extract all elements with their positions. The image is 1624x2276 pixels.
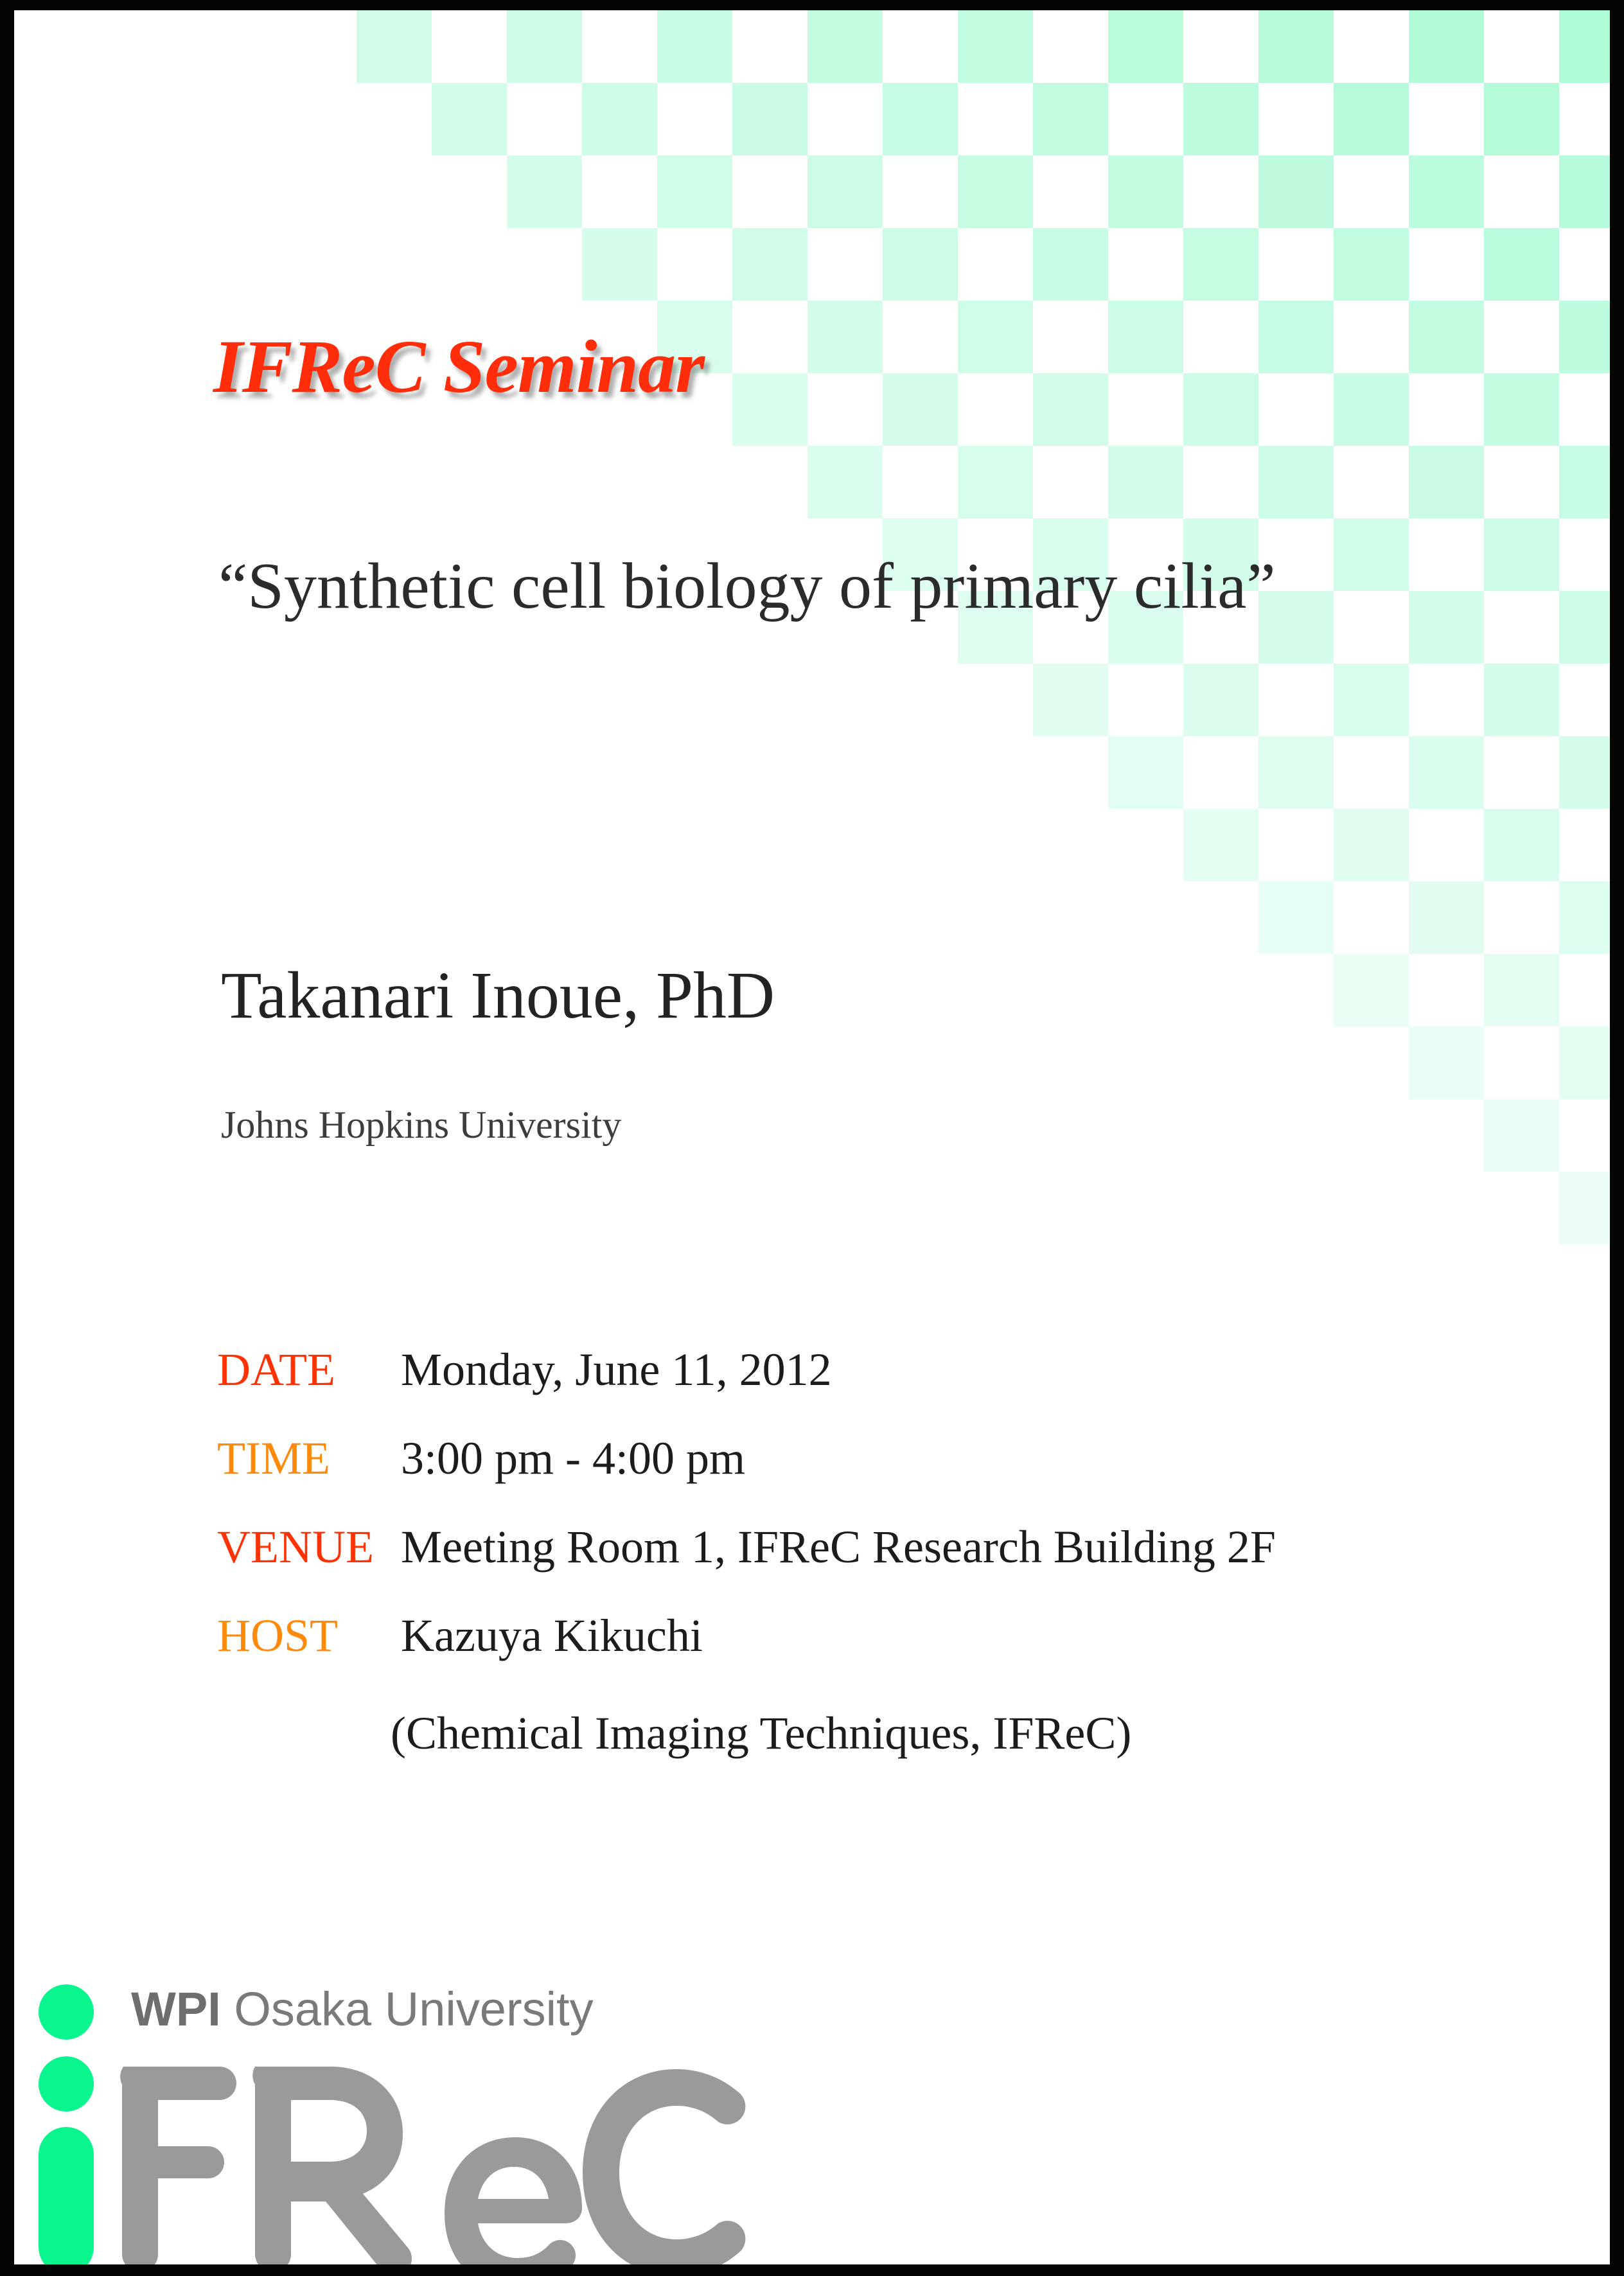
checker-cell xyxy=(1334,809,1409,881)
checker-cell xyxy=(1409,881,1484,954)
detail-label-time: TIME xyxy=(217,1435,401,1481)
detail-row-time: TIME 3:00 pm - 4:00 pm xyxy=(217,1435,1502,1524)
checker-cell xyxy=(1559,10,1610,83)
detail-row-date: DATE Monday, June 11, 2012 xyxy=(217,1346,1502,1435)
checker-cell xyxy=(1183,228,1258,301)
logo-university-name: Osaka University xyxy=(234,1982,593,2036)
logo-dot-top-icon xyxy=(39,1984,94,2040)
checker-cell xyxy=(808,301,883,373)
logo-university-text xyxy=(221,1982,234,2036)
checker-cell xyxy=(1409,1027,1484,1099)
host-department: (Chemical Imaging Techniques, IFReC) xyxy=(391,1710,1131,1756)
checker-cell xyxy=(1108,10,1183,83)
checker-cell xyxy=(1183,83,1258,155)
detail-value-host: Kazuya Kikuchi xyxy=(401,1612,703,1659)
checker-cell xyxy=(1033,228,1108,301)
checker-cell xyxy=(732,228,808,301)
checker-cell xyxy=(1409,155,1484,228)
checker-cell xyxy=(1183,809,1258,881)
checker-cell xyxy=(1559,446,1610,518)
checkerboard-decoration xyxy=(14,10,1610,1295)
logo-dot-stem-icon xyxy=(39,2127,94,2264)
checker-cell xyxy=(1409,591,1484,664)
poster-page: IFReC Seminar “Synthetic cell biology of… xyxy=(14,10,1610,2264)
detail-value-time: 3:00 pm - 4:00 pm xyxy=(401,1435,745,1481)
logo-i-dots-icon xyxy=(32,1984,103,2264)
checker-cell xyxy=(1559,591,1610,664)
checker-cell xyxy=(808,155,883,228)
talk-title: “Synthetic cell biology of primary cilia… xyxy=(218,552,1276,621)
checker-cell xyxy=(883,228,958,301)
detail-value-venue: Meeting Room 1, IFReC Research Building … xyxy=(401,1524,1276,1570)
checker-cell xyxy=(1409,446,1484,518)
checker-cell xyxy=(808,10,883,83)
checker-cell xyxy=(1484,518,1559,591)
speaker-affiliation: Johns Hopkins University xyxy=(221,1106,621,1144)
checker-cell xyxy=(1108,446,1183,518)
checker-cell xyxy=(582,83,657,155)
checker-cell xyxy=(1033,373,1108,446)
checker-cell xyxy=(1258,301,1334,373)
checker-cell xyxy=(958,155,1033,228)
checker-cell xyxy=(732,373,808,446)
logo-wpi-osaka-university: WPI Osaka University xyxy=(131,1986,594,2033)
checker-cell xyxy=(432,83,507,155)
checker-cell xyxy=(1183,373,1258,446)
event-details: DATE Monday, June 11, 2012 TIME 3:00 pm … xyxy=(217,1346,1502,1701)
seminar-series-title: IFReC Seminar xyxy=(213,329,704,405)
checker-cell xyxy=(1334,373,1409,446)
checker-cell xyxy=(1484,809,1559,881)
checker-cell xyxy=(357,10,432,83)
checker-cell xyxy=(1409,736,1484,809)
checker-cell xyxy=(1334,83,1409,155)
checker-cell xyxy=(883,83,958,155)
checker-cell xyxy=(1334,954,1409,1027)
checker-cell xyxy=(1484,228,1559,301)
checker-cell xyxy=(1183,664,1258,736)
checker-cell xyxy=(507,155,582,228)
checker-cell xyxy=(1334,228,1409,301)
detail-label-date: DATE xyxy=(217,1346,401,1393)
logo-wordmark-ifrec xyxy=(110,2047,753,2264)
speaker-name: Takanari Inoue, PhD xyxy=(221,962,775,1029)
checker-cell xyxy=(1258,155,1334,228)
checker-cell xyxy=(1258,10,1334,83)
checker-cell xyxy=(883,373,958,446)
detail-row-host: HOST Kazuya Kikuchi xyxy=(217,1612,1502,1701)
logo-wordmark-svg xyxy=(110,2047,753,2264)
checker-cell xyxy=(1559,881,1610,954)
checker-cell xyxy=(1334,518,1409,591)
checker-cell xyxy=(1484,664,1559,736)
detail-label-host: HOST xyxy=(217,1612,401,1659)
logo-dot-middle-icon xyxy=(39,2056,94,2112)
detail-label-venue: VENUE xyxy=(217,1524,401,1570)
detail-value-date: Monday, June 11, 2012 xyxy=(401,1346,832,1393)
checker-cell xyxy=(1484,1099,1559,1172)
checker-cell xyxy=(958,10,1033,83)
checker-cell xyxy=(1108,155,1183,228)
checker-cell xyxy=(1409,301,1484,373)
checker-cell xyxy=(1108,301,1183,373)
checker-cell xyxy=(657,10,732,83)
checker-cell xyxy=(808,446,883,518)
checker-cell xyxy=(1484,83,1559,155)
checker-cell xyxy=(1033,83,1108,155)
checker-cell xyxy=(732,83,808,155)
checker-cell xyxy=(1033,664,1108,736)
checker-cell xyxy=(1258,881,1334,954)
checker-cell xyxy=(1409,10,1484,83)
checker-cell xyxy=(657,155,732,228)
checker-cell xyxy=(1334,664,1409,736)
checker-cell xyxy=(1559,301,1610,373)
checker-cell xyxy=(1258,736,1334,809)
checker-cell xyxy=(958,446,1033,518)
checker-cell xyxy=(507,10,582,83)
checker-cell xyxy=(1484,373,1559,446)
checker-cell xyxy=(582,228,657,301)
checker-cell xyxy=(1484,954,1559,1027)
checker-cell xyxy=(958,301,1033,373)
checker-cell xyxy=(1258,446,1334,518)
checker-cell xyxy=(1559,1172,1610,1244)
checker-cell xyxy=(1559,1027,1610,1099)
checker-cell xyxy=(1559,736,1610,809)
checker-cell xyxy=(1559,155,1610,228)
checker-cell xyxy=(1108,736,1183,809)
logo-wpi-text: WPI xyxy=(131,1982,221,2036)
ifrec-logo: WPI Osaka University xyxy=(14,1972,785,2264)
detail-row-venue: VENUE Meeting Room 1, IFReC Research Bui… xyxy=(217,1524,1502,1612)
